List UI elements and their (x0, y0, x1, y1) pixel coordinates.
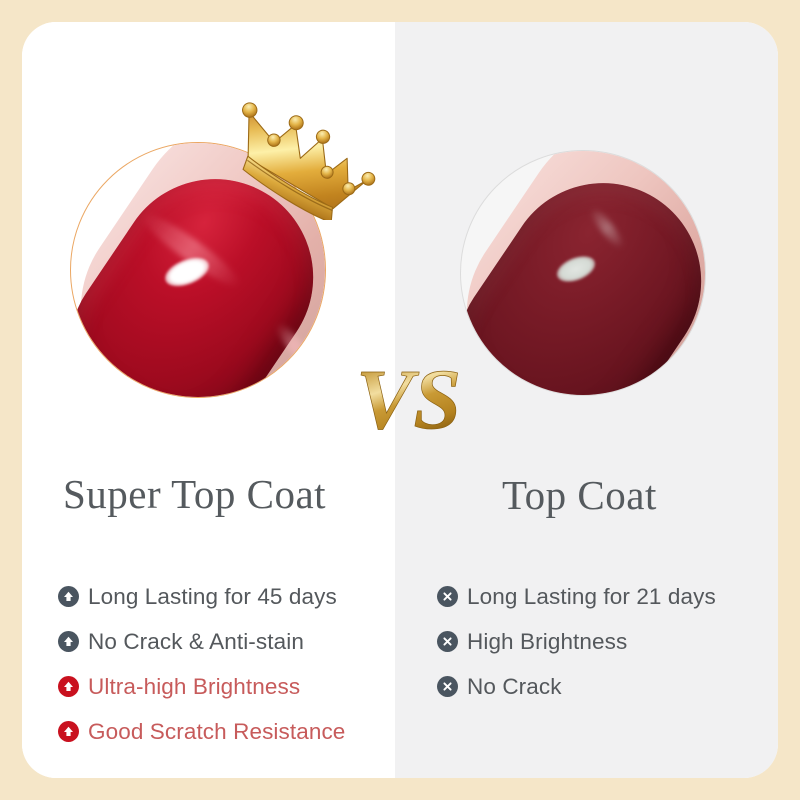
list-item: Long Lasting for 45 days (58, 574, 345, 619)
left-feature-list: Long Lasting for 45 days No Crack & Anti… (58, 574, 345, 754)
arrow-up-icon (58, 721, 79, 742)
cross-x-icon (437, 586, 458, 607)
outer-frame: Super Top Coat Long Lasting for 45 days … (0, 0, 800, 800)
list-item: Good Scratch Resistance (58, 709, 345, 754)
list-item: Long Lasting for 21 days (437, 574, 716, 619)
list-item: No Crack & Anti-stain (58, 619, 345, 664)
crown-icon (220, 100, 390, 220)
list-item-label: Long Lasting for 21 days (467, 584, 716, 610)
list-item-label: High Brightness (467, 629, 627, 655)
arrow-up-icon (58, 631, 79, 652)
arrow-up-icon (58, 676, 79, 697)
vs-text: VS (356, 351, 461, 447)
list-item: No Crack (437, 664, 716, 709)
comparison-card: Super Top Coat Long Lasting for 45 days … (22, 22, 778, 778)
list-item-label: No Crack (467, 674, 562, 700)
right-feature-list: Long Lasting for 21 days High Brightness… (437, 574, 716, 709)
arrow-up-icon (58, 586, 79, 607)
cross-x-icon (437, 676, 458, 697)
cross-x-icon (437, 631, 458, 652)
list-item-label: Long Lasting for 45 days (88, 584, 337, 610)
list-item: Ultra-high Brightness (58, 664, 345, 709)
left-panel-super-top-coat: Super Top Coat Long Lasting for 45 days … (22, 22, 395, 778)
list-item-label: Ultra-high Brightness (88, 674, 300, 700)
list-item-label: Good Scratch Resistance (88, 719, 345, 745)
right-product-title: Top Coat (502, 471, 657, 519)
left-product-title: Super Top Coat (63, 470, 326, 518)
list-item-label: No Crack & Anti-stain (88, 629, 304, 655)
vs-badge: VS (352, 350, 482, 450)
list-item: High Brightness (437, 619, 716, 664)
